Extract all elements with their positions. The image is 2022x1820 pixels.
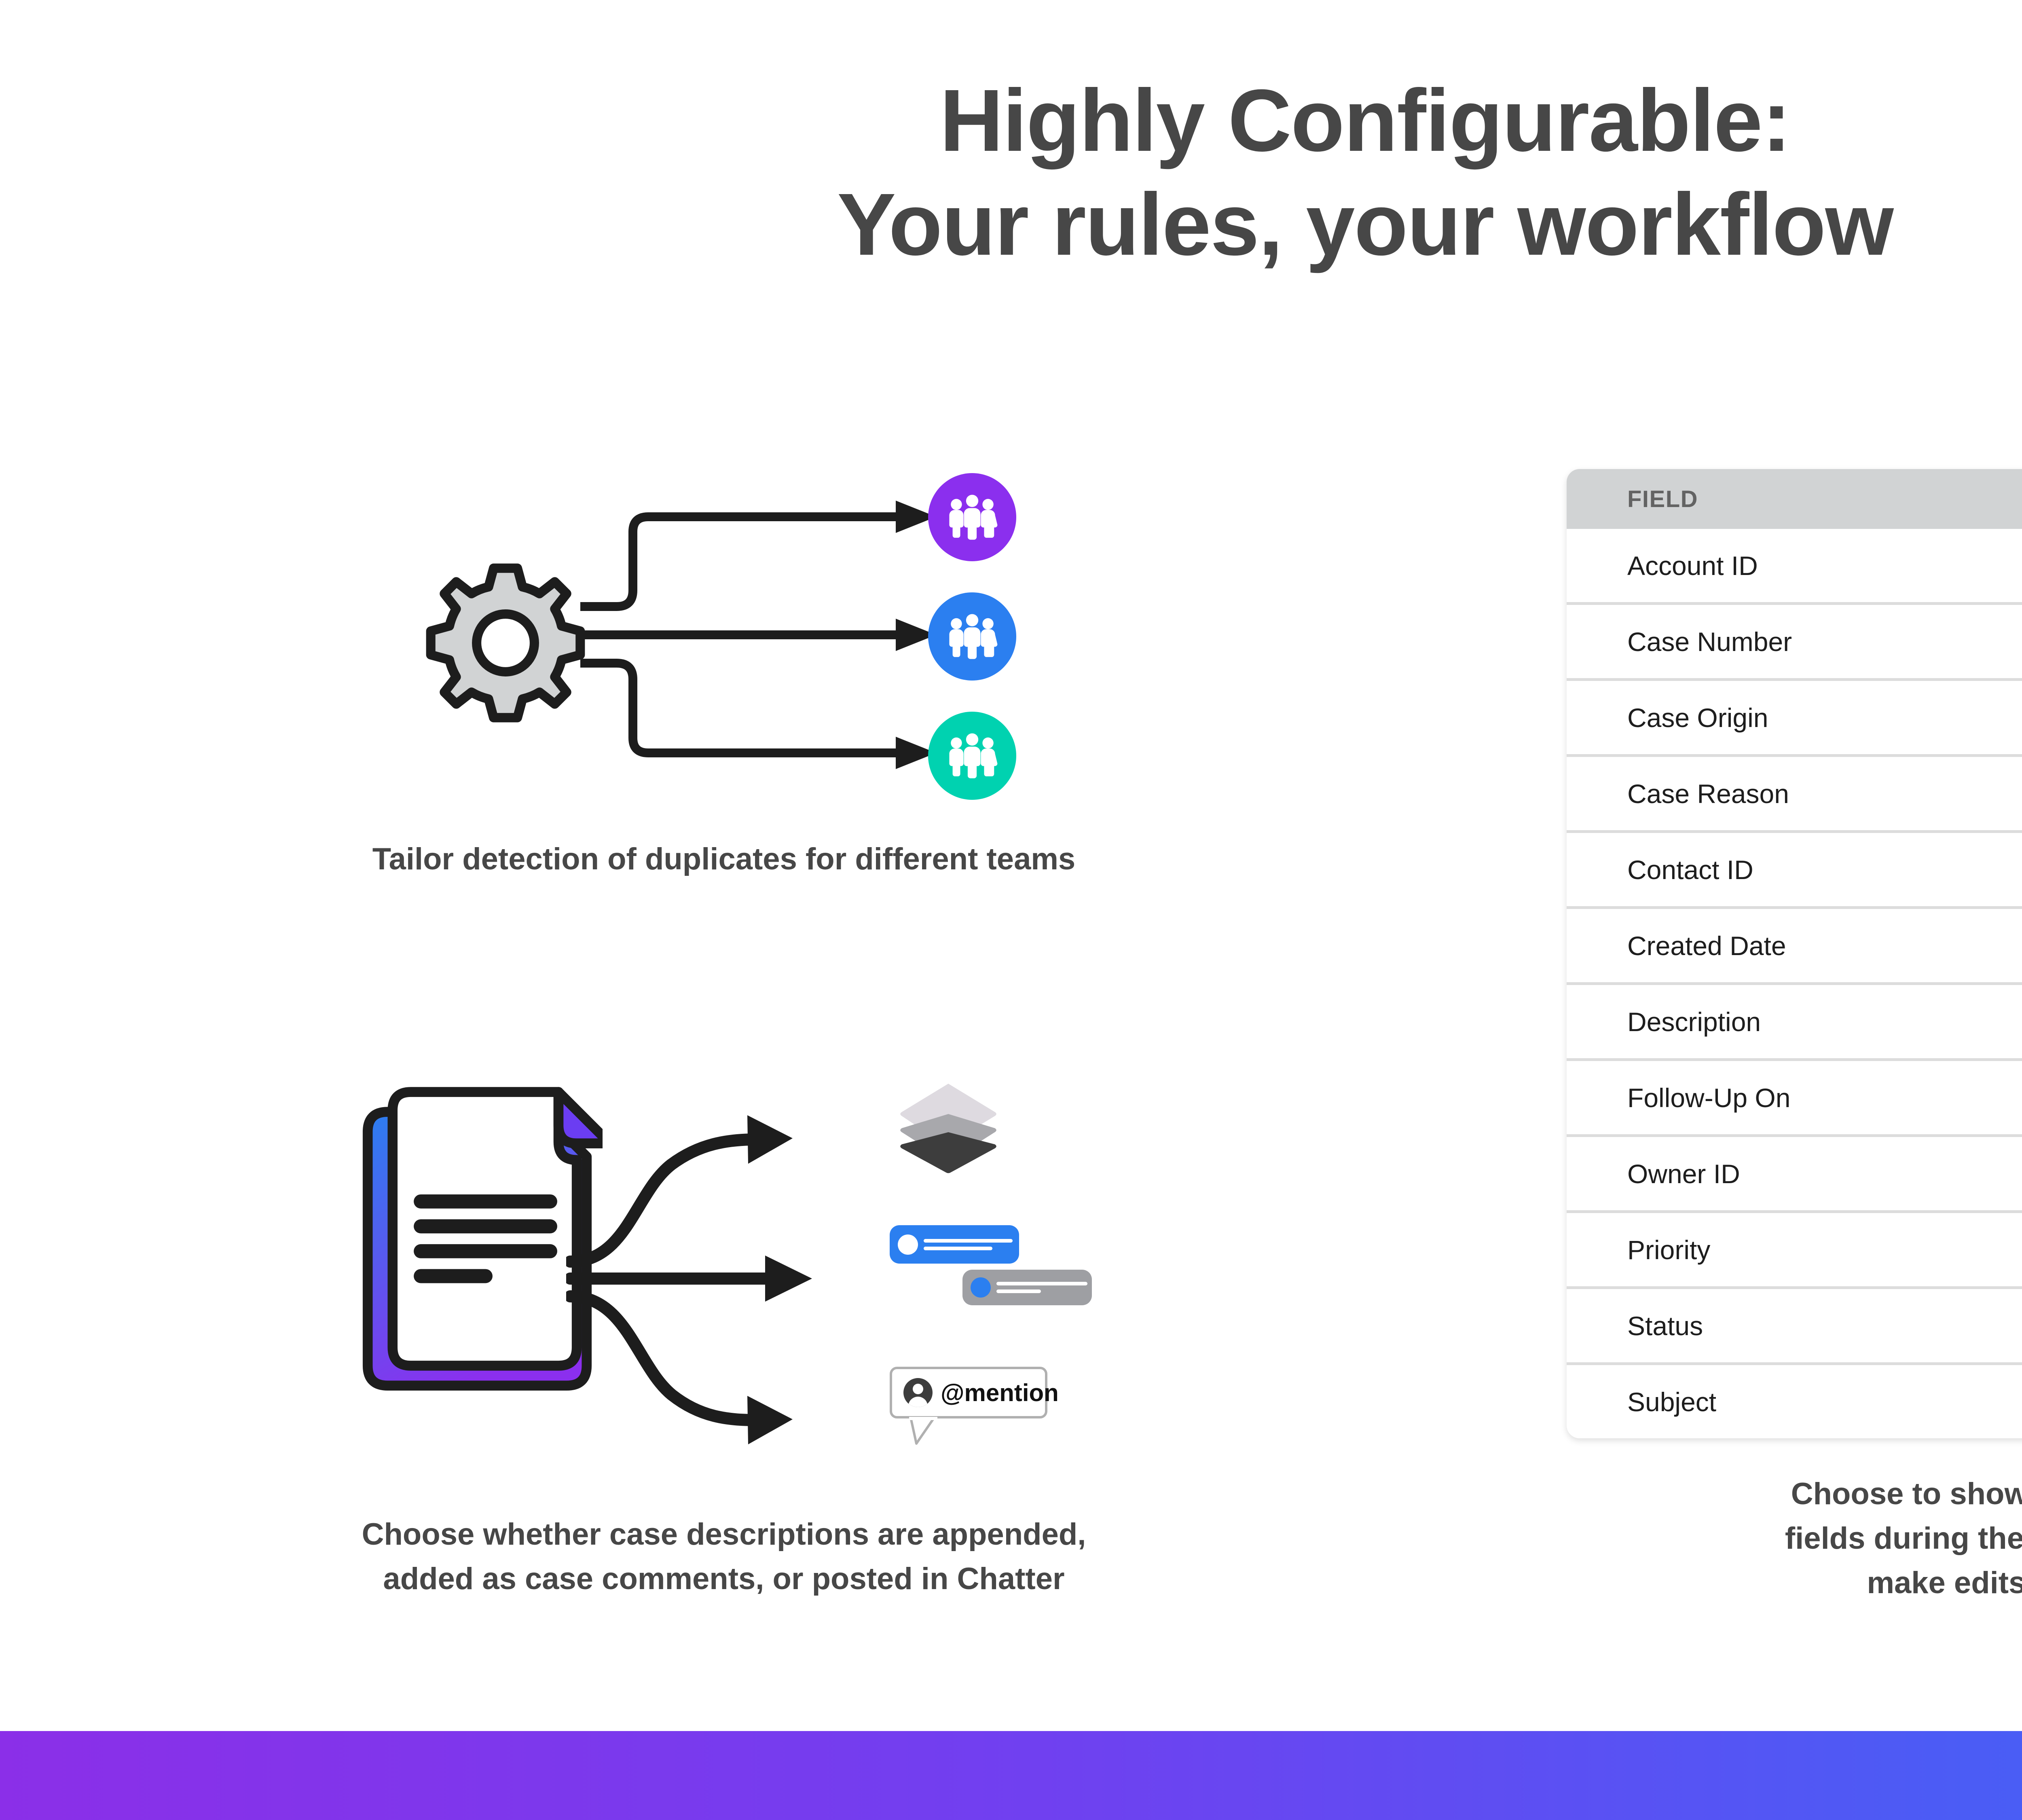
page-title-line-2: Your rules, your workflow <box>0 173 2022 277</box>
case-comment-icon <box>890 1225 1140 1318</box>
field-name-cell: Follow-Up On <box>1567 1082 2022 1113</box>
caption-teams: Tailor detection of duplicates for diffe… <box>0 837 1448 881</box>
field-name-cell: Description <box>1567 1006 2022 1037</box>
caption-fields: Choose to show only the most important f… <box>1448 1472 2022 1606</box>
caption-fields-line-3: make edits during the process <box>1448 1561 2022 1605</box>
field-name-cell: Subject <box>1567 1387 2022 1417</box>
field-name-cell: Owner ID <box>1567 1158 2022 1189</box>
table-row: Description <box>1567 985 2022 1061</box>
field-name-cell: Case Origin <box>1567 702 2022 733</box>
table-row: Case Reason <box>1567 757 2022 833</box>
column-header-field: FIELD <box>1567 486 2022 513</box>
stacked-layers-icon <box>898 1082 999 1175</box>
caption-fields-line-2: fields during the merge, with the abilit… <box>1448 1516 2022 1561</box>
gear-icon <box>421 558 590 728</box>
comment-text-lines <box>996 1282 1087 1293</box>
curved-arrow-connectors <box>566 1072 874 1484</box>
table-row: Subject <box>1567 1365 2022 1438</box>
table-row: Follow-Up On <box>1567 1061 2022 1137</box>
field-name-cell: Contact ID <box>1567 854 2022 885</box>
table-row: Case Origin <box>1567 681 2022 757</box>
left-panel: Tailor detection of duplicates for diffe… <box>0 429 1448 809</box>
caption-descriptions-line-1: Choose whether case descriptions are app… <box>0 1512 1448 1557</box>
teams-routing-diagram <box>421 429 1108 809</box>
team-circle-3[interactable] <box>928 712 1016 800</box>
bubble-tail-icon <box>909 1417 945 1445</box>
table-row: Created Date <box>1567 909 2022 985</box>
caption-descriptions: Choose whether case descriptions are app… <box>0 1512 1448 1601</box>
people-group-icon <box>944 727 1000 784</box>
table-row: Contact ID <box>1567 833 2022 909</box>
field-name-cell: Account ID <box>1567 550 2022 581</box>
team-circle-2[interactable] <box>928 592 1016 681</box>
table-row: Priority <box>1567 1213 2022 1289</box>
chatter-mention-icon: @mention <box>890 1367 1047 1418</box>
avatar <box>903 1378 933 1407</box>
table-header-row: FIELD EDITABLE <box>1567 469 2022 529</box>
footer-gradient-bar <box>0 1731 2022 1820</box>
field-name-cell: Case Reason <box>1567 778 2022 809</box>
table-body: Account IDCase NumberCase OriginCase Rea… <box>1567 529 2022 1438</box>
people-group-icon <box>944 608 1000 665</box>
table-row: Owner ID <box>1567 1137 2022 1213</box>
comment-bubble-secondary <box>962 1270 1092 1305</box>
description-routing-diagram: @mention <box>315 1072 1148 1484</box>
field-editability-table: FIELD EDITABLE Account IDCase NumberCase… <box>1567 469 2022 1438</box>
team-circle-1[interactable] <box>928 473 1016 561</box>
page-title-line-1: Highly Configurable: <box>0 69 2022 173</box>
page-title: Highly Configurable: Your rules, your wo… <box>0 69 2022 277</box>
field-name-cell: Status <box>1567 1311 2022 1341</box>
mention-label: @mention <box>941 1379 1059 1407</box>
document-icon <box>352 1084 603 1407</box>
caption-descriptions-line-2: added as case comments, or posted in Cha… <box>0 1557 1448 1601</box>
avatar <box>971 1277 991 1298</box>
table-row: Status <box>1567 1289 2022 1365</box>
field-name-cell: Case Number <box>1567 626 2022 657</box>
table-row: Account ID <box>1567 529 2022 605</box>
avatar <box>898 1234 918 1255</box>
comment-text-lines <box>924 1239 1013 1250</box>
people-group-icon <box>944 489 1000 545</box>
table-row: Case Number <box>1567 605 2022 681</box>
field-name-cell: Priority <box>1567 1234 2022 1265</box>
field-name-cell: Created Date <box>1567 930 2022 961</box>
comment-bubble-primary <box>890 1225 1019 1264</box>
branch-connectors <box>580 429 944 809</box>
caption-fields-line-1: Choose to show only the most important <box>1448 1472 2022 1516</box>
